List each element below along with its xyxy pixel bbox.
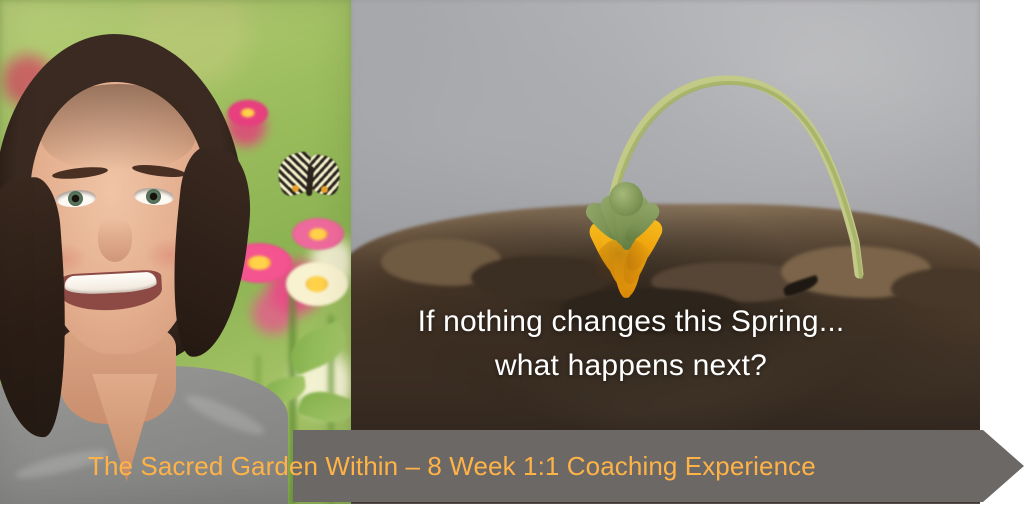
- promo-banner-canvas: If nothing changes this Spring... what h…: [0, 0, 1024, 512]
- butterfly-spot: [292, 185, 299, 192]
- frame-edge-bottom: [0, 504, 1024, 512]
- sunflower-photo: [351, 0, 980, 504]
- zinnia-flower: [286, 262, 348, 306]
- butterfly-body: [306, 166, 314, 196]
- headline: If nothing changes this Spring... what h…: [351, 300, 911, 388]
- nose: [98, 218, 132, 262]
- woman-figure: [0, 28, 278, 504]
- headline-line-2: what happens next?: [351, 344, 911, 388]
- iris: [145, 188, 161, 204]
- wilted-flower-head: [573, 168, 683, 294]
- headline-line-1: If nothing changes this Spring...: [351, 300, 911, 344]
- teeth: [64, 272, 157, 296]
- frame-edge-right: [980, 0, 1024, 430]
- zinnia-flower: [292, 218, 344, 250]
- banner-title: The Sacred Garden Within – 8 Week 1:1 Co…: [88, 442, 888, 490]
- calyx: [609, 182, 643, 216]
- iris: [67, 191, 83, 207]
- forehead-shadow: [40, 84, 196, 170]
- butterfly-spot: [321, 186, 328, 193]
- portrait-photo: [0, 0, 351, 504]
- butterfly-icon: [276, 152, 342, 210]
